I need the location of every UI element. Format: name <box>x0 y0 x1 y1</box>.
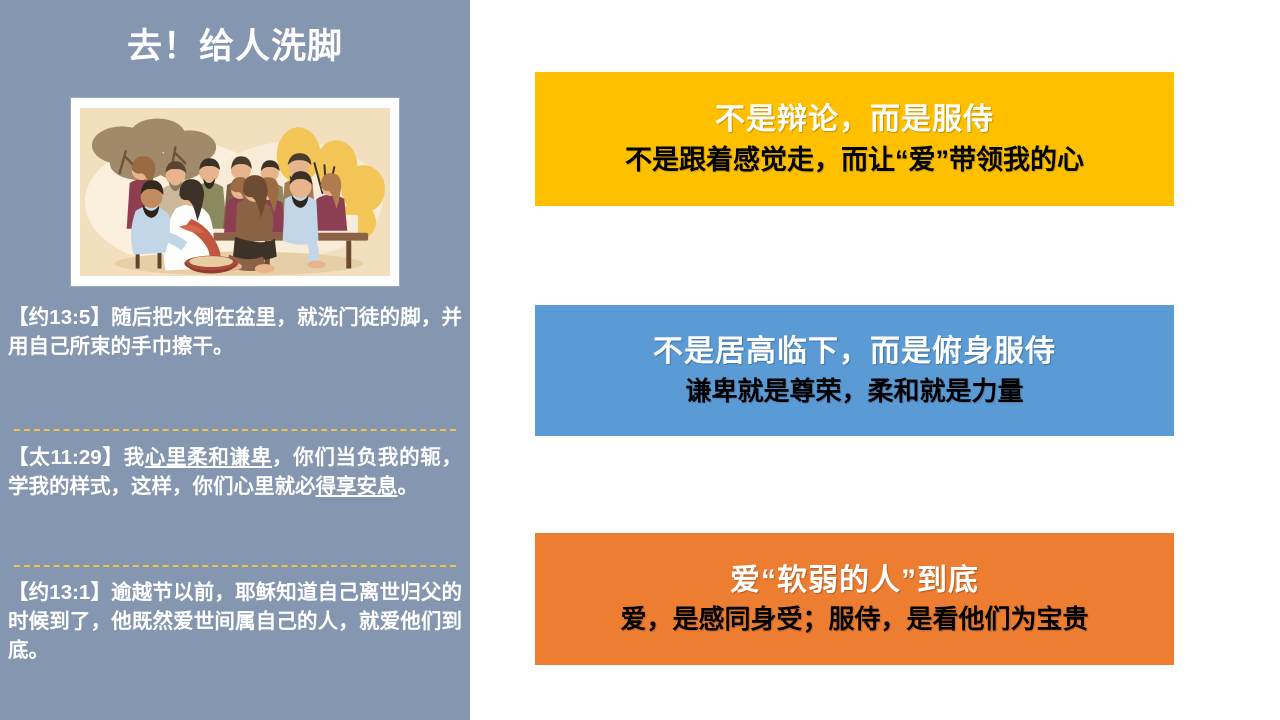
panel-subtitle: 不是跟着感觉走，而让“爱”带领我的心 <box>625 144 1084 176</box>
panel-heading: 不是辩论，而是服侍 <box>715 102 994 137</box>
verse-block-2: 【太11:29】我心里柔和谦卑，你们当负我的轭，学我的样式，这样，你们心里就必得… <box>8 443 462 501</box>
illustration-frame <box>70 97 400 287</box>
point-panel-humility: 不是居高临下，而是俯身服侍 谦卑就是尊荣，柔和就是力量 <box>535 305 1174 436</box>
verse-text-part: 。 <box>398 475 419 498</box>
panel-heading: 不是居高临下，而是俯身服侍 <box>653 334 1056 369</box>
panel-subtitle: 谦卑就是尊荣，柔和就是力量 <box>685 376 1023 407</box>
verse-divider-1 <box>14 429 456 431</box>
verse-divider-2 <box>14 565 456 567</box>
sidebar-panel: 去！给人洗脚 <box>0 0 470 720</box>
panel-heading: 爱“软弱的人”到底 <box>730 563 979 598</box>
verse-block-3: 【约13:1】逾越节以前，耶稣知道自己离世归父的时候到了，他既然爱世间属自己的人… <box>8 578 462 665</box>
presentation-slide: 去！给人洗脚 <box>0 0 1280 720</box>
panel-subtitle: 爱，是感同身受；服侍，是看他们为宝贵 <box>620 604 1088 635</box>
page-title: 去！给人洗脚 <box>0 26 470 68</box>
verse-block-1: 【约13:5】随后把水倒在盆里，就洗门徒的脚，并用自己所束的手巾擦干。 <box>8 303 462 361</box>
verse-text-part: 我 <box>124 446 145 469</box>
verse-reference: 【太11:29】 <box>8 446 124 469</box>
verse-reference: 【约13:5】 <box>8 306 111 329</box>
verse-text-underlined: 得享安息 <box>316 475 398 498</box>
jesus-washing-feet-illustration <box>80 108 390 276</box>
point-panel-love: 爱“软弱的人”到底 爱，是感同身受；服侍，是看他们为宝贵 <box>535 533 1174 665</box>
point-panel-service: 不是辩论，而是服侍 不是跟着感觉走，而让“爱”带领我的心 <box>535 72 1174 206</box>
verse-text-underlined: 心里柔和谦卑 <box>145 446 272 469</box>
verse-reference: 【约13:1】 <box>8 581 111 604</box>
